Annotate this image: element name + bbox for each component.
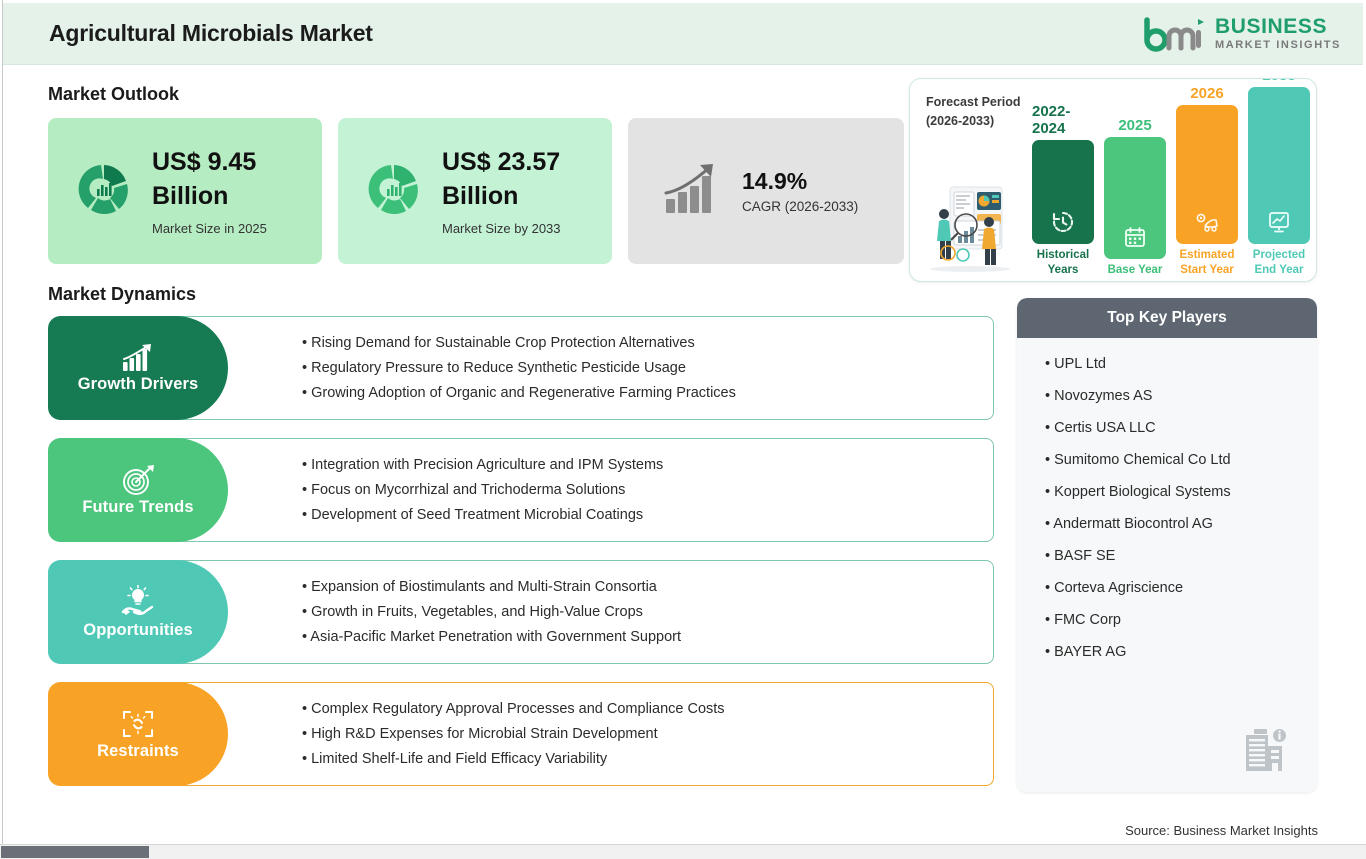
market-outlook-cards: US$ 9.45 Billion Market Size in 2025 (48, 118, 904, 264)
dynamics-bullets-box: • Rising Demand for Sustainable Crop Pro… (168, 316, 994, 420)
forecast-title-line1: Forecast Period (926, 93, 1020, 112)
players-panel-title: Top Key Players (1017, 298, 1317, 338)
bar-projected-end-year (1248, 87, 1310, 244)
dynamics-pill-label: Growth Drivers (78, 375, 199, 394)
player-item: • UPL Ltd (1045, 356, 1317, 372)
stat-label: CAGR (2026-2033) (742, 199, 858, 214)
stat-card-cagr: 14.9% CAGR (2026-2033) (628, 118, 904, 264)
analytics-illustration-icon (920, 181, 1020, 273)
market-outlook-title: Market Outlook (48, 84, 179, 105)
dynamics-pill-label: Future Trends (82, 498, 193, 517)
bullet-item: • Growth in Fruits, Vegetables, and High… (302, 604, 993, 620)
bullet-item: • High R&D Expenses for Microbial Strain… (302, 726, 993, 742)
target-dart-icon (121, 464, 155, 496)
stat-value-line1: 14.9% (742, 168, 858, 196)
bar-estimated-start-year (1176, 105, 1238, 244)
stat-label: Market Size in 2025 (152, 221, 267, 236)
bar-year-label: 2025 (1118, 117, 1151, 134)
bar-group-projected: 2033 Projected End Year (1248, 78, 1310, 277)
player-item: • Corteva Agriscience (1045, 580, 1317, 596)
header-bar: Agricultural Microbials Market BUSINESS … (3, 3, 1363, 65)
dynamics-pill-label: Restraints (97, 742, 179, 761)
dynamics-pill-label: Opportunities (83, 621, 192, 640)
stat-value-line1: US$ 9.45 (152, 146, 267, 180)
bar-group-base: 2025 Base Year (1104, 117, 1166, 277)
history-clock-icon (1051, 210, 1075, 234)
projection-board-icon (1266, 210, 1292, 234)
dynamics-pill-opportunities[interactable]: Opportunities (48, 560, 228, 664)
horizontal-scrollbar[interactable] (0, 844, 1366, 859)
top-key-players-panel: Top Key Players • UPL Ltd • Novozymes AS… (1017, 298, 1317, 792)
broken-link-icon (121, 708, 155, 740)
bullet-item: • Expansion of Biostimulants and Multi-S… (302, 579, 993, 595)
dynamics-bullets-box: • Integration with Precision Agriculture… (168, 438, 994, 542)
bar-caption-text: Projected End Year (1253, 249, 1305, 275)
player-item: • Certis USA LLC (1045, 420, 1317, 436)
bar-base-year (1104, 137, 1166, 259)
bar-group-historical: 2022-2024 Historical Years (1032, 103, 1094, 277)
player-item: • FMC Corp (1045, 612, 1317, 628)
bullet-item: • Asia-Pacific Market Penetration with G… (302, 629, 993, 645)
stat-value-line2: Billion (152, 180, 267, 214)
dynamics-row-future-trends: • Integration with Precision Agriculture… (48, 438, 994, 542)
stat-value-line1: US$ 23.57 (442, 146, 561, 180)
bar-caption-text: Base Year (1108, 264, 1163, 276)
donut-chart-icon (364, 159, 424, 224)
estimate-gear-icon (1194, 210, 1220, 234)
bullet-item: • Complex Regulatory Approval Processes … (302, 701, 993, 717)
source-note: Source: Business Market Insights (1125, 823, 1318, 838)
brand-logo: BUSINESS MARKET INSIGHTS (1144, 16, 1341, 52)
dynamics-pill-restraints[interactable]: Restraints (48, 682, 228, 786)
bullet-item: • Growing Adoption of Organic and Regene… (302, 385, 993, 401)
stat-value-line2: Billion (442, 180, 561, 214)
growth-bar-chart-icon (662, 161, 724, 222)
donut-chart-icon (74, 159, 134, 224)
bullet-item: • Regulatory Pressure to Reduce Syntheti… (302, 360, 993, 376)
stat-label: Market Size by 2033 (442, 221, 561, 236)
forecast-period-chart: Forecast Period (2026-2033) (909, 78, 1317, 282)
bullet-item: • Limited Shelf-Life and Field Efficacy … (302, 751, 993, 767)
bar-year-label: 2033 (1262, 78, 1295, 84)
dynamics-pill-future-trends[interactable]: Future Trends (48, 438, 228, 542)
company-building-icon (1241, 726, 1289, 774)
bar-year-label: 2022-2024 (1032, 103, 1094, 137)
players-list: • UPL Ltd • Novozymes AS • Certis USA LL… (1017, 338, 1317, 660)
bar-year-label: 2026 (1190, 85, 1223, 102)
bar-caption: Base Year (1108, 263, 1163, 277)
bullet-item: • Integration with Precision Agriculture… (302, 457, 993, 473)
bar-historical (1032, 140, 1094, 244)
market-dynamics-list: • Rising Demand for Sustainable Crop Pro… (48, 316, 994, 804)
logo-primary-text: BUSINESS (1215, 16, 1341, 37)
player-item: • Sumitomo Chemical Co Ltd (1045, 452, 1317, 468)
market-dynamics-title: Market Dynamics (48, 284, 196, 305)
bar-caption: Estimated Start Year (1176, 248, 1238, 277)
calendar-icon (1123, 225, 1147, 249)
dynamics-row-opportunities: • Expansion of Biostimulants and Multi-S… (48, 560, 994, 664)
dynamics-row-restraints: • Complex Regulatory Approval Processes … (48, 682, 994, 786)
player-item: • BAYER AG (1045, 644, 1317, 660)
dynamics-row-growth-drivers: • Rising Demand for Sustainable Crop Pro… (48, 316, 994, 420)
bar-caption-text: Estimated Start Year (1180, 249, 1235, 275)
dynamics-bullets-box: • Expansion of Biostimulants and Multi-S… (168, 560, 994, 664)
dynamics-pill-growth-drivers[interactable]: Growth Drivers (48, 316, 228, 420)
scrollbar-thumb[interactable] (1, 846, 149, 858)
bar-caption: Historical Years (1032, 248, 1094, 277)
player-item: • Andermatt Biocontrol AG (1045, 516, 1317, 532)
bullet-item: • Development of Seed Treatment Microbia… (302, 507, 993, 523)
stat-card-market-size-2033: US$ 23.57 Billion Market Size by 2033 (338, 118, 612, 264)
bar-caption: Projected End Year (1248, 248, 1310, 277)
player-item: • Koppert Biological Systems (1045, 484, 1317, 500)
bullet-item: • Focus on Mycorrhizal and Trichoderma S… (302, 482, 993, 498)
forecast-title-line2: (2026-2033) (926, 112, 1020, 131)
infographic-page: Agricultural Microbials Market BUSINESS … (0, 0, 1366, 859)
bullet-item: • Rising Demand for Sustainable Crop Pro… (302, 335, 993, 351)
lightbulb-hand-icon (119, 585, 157, 619)
logo-secondary-text: MARKET INSIGHTS (1215, 40, 1341, 51)
forecast-title: Forecast Period (2026-2033) (926, 93, 1020, 132)
player-item: • Novozymes AS (1045, 388, 1317, 404)
growth-chart-icon (121, 343, 155, 373)
bmi-logo-icon (1144, 16, 1206, 52)
forecast-bars: 2022-2024 Historical Years 2025 (1032, 87, 1310, 277)
bar-caption-text: Historical Years (1037, 249, 1089, 275)
stat-card-market-size-2025: US$ 9.45 Billion Market Size in 2025 (48, 118, 322, 264)
page-frame-edge (0, 0, 3, 845)
player-item: • BASF SE (1045, 548, 1317, 564)
bar-group-estimated: 2026 Estimated Start Year (1176, 85, 1238, 277)
dynamics-bullets-box: • Complex Regulatory Approval Processes … (168, 682, 994, 786)
page-title: Agricultural Microbials Market (49, 20, 373, 47)
